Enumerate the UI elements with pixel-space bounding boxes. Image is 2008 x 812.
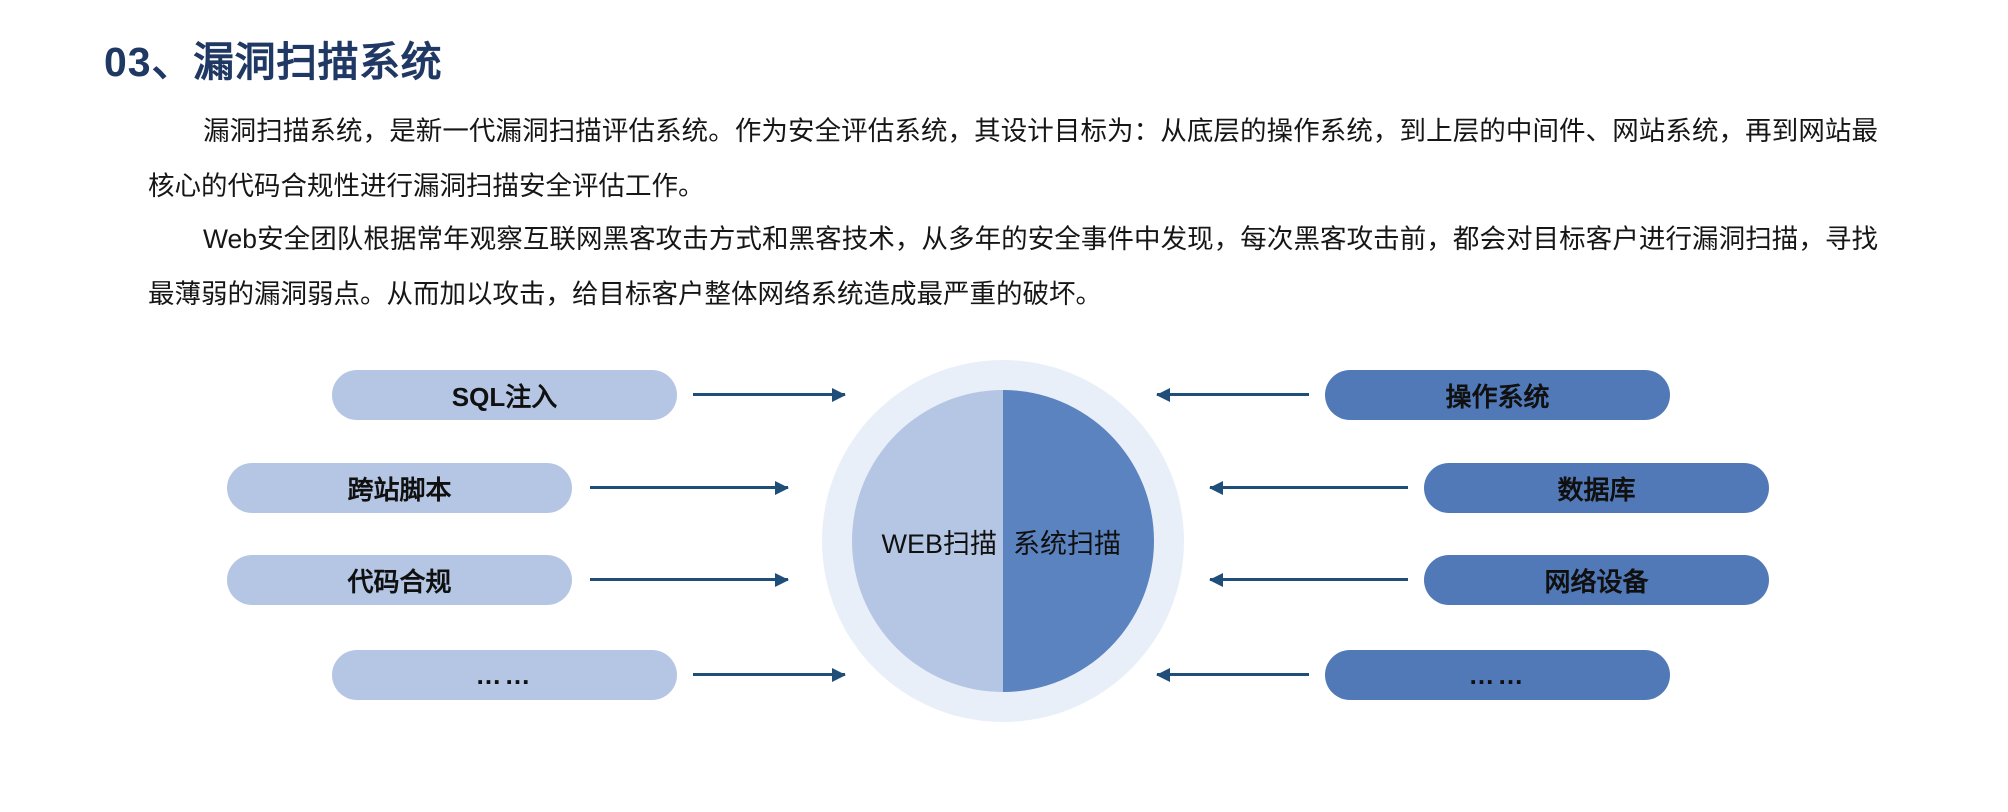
arrow-left-1 — [693, 393, 845, 396]
right-item-more[interactable]: …… — [1325, 650, 1670, 700]
page-title-separator: 、 — [152, 39, 194, 85]
left-item-xss[interactable]: 跨站脚本 — [227, 463, 572, 513]
arrow-left-3 — [590, 578, 788, 581]
paragraph-2-text: Web安全团队根据常年观察互联网黑客攻击方式和黑客技术，从多年的安全事件中发现，… — [148, 224, 1878, 309]
left-item-sql-injection[interactable]: SQL注入 — [332, 370, 677, 420]
right-item-database[interactable]: 数据库 — [1424, 463, 1769, 513]
right-item-label: …… — [1469, 660, 1527, 691]
page-title-number: 03 — [104, 39, 152, 85]
page-title-text: 漏洞扫描系统 — [193, 39, 442, 85]
page-title: 03、漏洞扫描系统 — [104, 28, 442, 88]
left-item-label: 代码合规 — [347, 562, 451, 599]
arrow-right-2 — [1210, 486, 1408, 489]
right-item-operating-system[interactable]: 操作系统 — [1325, 370, 1670, 420]
center-half-web: WEB扫描 — [852, 390, 1003, 692]
paragraph-1-text: 漏洞扫描系统，是新一代漏洞扫描评估系统。作为安全评估系统，其设计目标为：从底层的… — [148, 116, 1878, 201]
paragraph-1: 漏洞扫描系统，是新一代漏洞扫描评估系统。作为安全评估系统，其设计目标为：从底层的… — [148, 104, 1878, 214]
center-half-system: 系统扫描 — [1003, 390, 1154, 692]
left-item-label: SQL注入 — [452, 377, 557, 414]
right-item-label: 数据库 — [1557, 470, 1635, 507]
left-item-code-compliance[interactable]: 代码合规 — [227, 555, 572, 605]
scanning-system-diagram: WEB扫描 系统扫描 SQL注入 跨站脚本 代码合规 …… 操作系统 数据库 网… — [0, 352, 2008, 812]
left-item-more[interactable]: …… — [332, 650, 677, 700]
left-item-label: …… — [476, 660, 534, 691]
arrow-left-4 — [693, 673, 845, 676]
arrow-left-2 — [590, 486, 788, 489]
slide-canvas: 03、漏洞扫描系统 漏洞扫描系统，是新一代漏洞扫描评估系统。作为安全评估系统，其… — [0, 0, 2008, 812]
arrow-right-4 — [1157, 673, 1309, 676]
paragraph-2: Web安全团队根据常年观察互联网黑客攻击方式和黑客技术，从多年的安全事件中发现，… — [148, 212, 1878, 322]
right-item-label: 操作系统 — [1445, 377, 1549, 414]
arrow-right-1 — [1157, 393, 1309, 396]
center-circle: WEB扫描 系统扫描 — [852, 390, 1154, 692]
right-item-network-device[interactable]: 网络设备 — [1424, 555, 1769, 605]
left-item-label: 跨站脚本 — [347, 470, 451, 507]
right-item-label: 网络设备 — [1544, 562, 1648, 599]
arrow-right-3 — [1210, 578, 1408, 581]
